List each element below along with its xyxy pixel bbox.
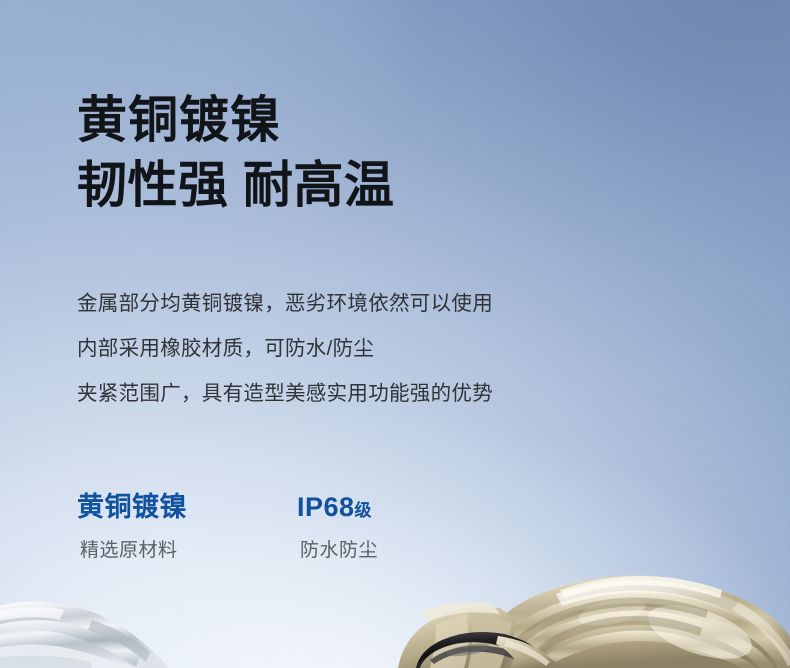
body-copy: 金属部分均黄铜镀镍，恶劣环境依然可以使用 内部采用橡胶材质，可防水/防尘 夹紧范…	[77, 281, 493, 416]
headline: 黄铜镀镍 韧性强 耐高温	[77, 88, 394, 218]
banner-content: 黄铜镀镍 韧性强 耐高温 金属部分均黄铜镀镍，恶劣环境依然可以使用 内部采用橡胶…	[0, 0, 790, 668]
body-line-1: 金属部分均黄铜镀镍，恶劣环境依然可以使用	[77, 281, 493, 326]
feature-item-ip-rating: IP68级 防水防尘	[297, 490, 517, 564]
feature-title-material: 黄铜镀镍	[77, 490, 297, 528]
feature-item-material: 黄铜镀镍 精选原材料	[77, 490, 297, 564]
feature-title-material-text: 黄铜镀镍	[77, 492, 187, 522]
feature-subtitle-ip-rating: 防水防尘	[300, 538, 517, 564]
feature-title-ip-rating-suffix: 级	[355, 501, 372, 520]
body-line-2: 内部采用橡胶材质，可防水/防尘	[77, 326, 493, 371]
feature-title-ip-rating-text: IP68	[297, 492, 355, 522]
feature-list: 黄铜镀镍 精选原材料 IP68级 防水防尘	[77, 490, 517, 564]
feature-title-ip-rating: IP68级	[297, 490, 517, 528]
body-line-3: 夹紧范围广，具有造型美感实用功能强的优势	[77, 371, 493, 416]
headline-line-2: 韧性强 耐高温	[77, 153, 394, 218]
headline-line-1: 黄铜镀镍	[77, 88, 394, 153]
feature-subtitle-material: 精选原材料	[80, 538, 297, 564]
product-feature-banner: 黄铜镀镍 韧性强 耐高温 金属部分均黄铜镀镍，恶劣环境依然可以使用 内部采用橡胶…	[0, 0, 790, 668]
